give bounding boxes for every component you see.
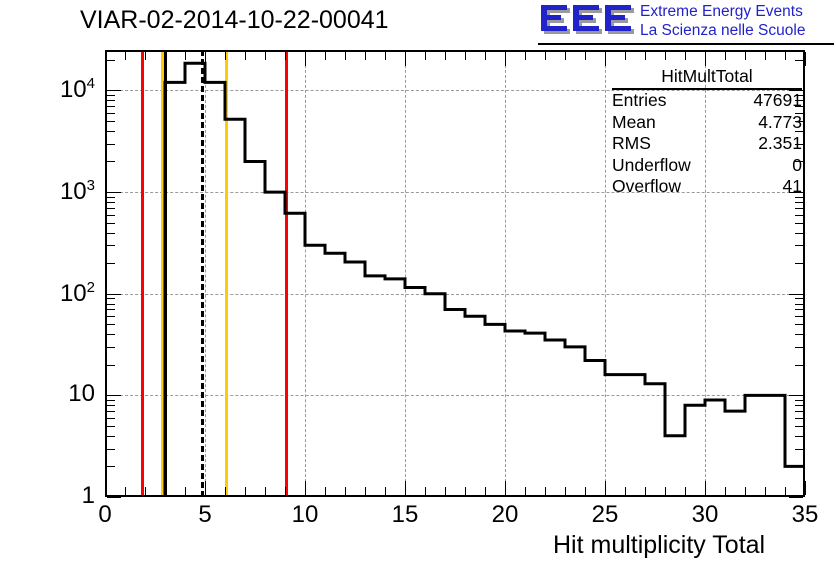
x-tick xyxy=(785,52,786,60)
x-tick xyxy=(445,52,446,60)
x-tick xyxy=(285,52,286,60)
y-tick xyxy=(107,466,115,467)
eee-logo-line1: Extreme Energy Events xyxy=(640,2,805,21)
x-tick xyxy=(685,52,686,60)
y-tick xyxy=(795,298,803,299)
x-tick xyxy=(325,52,326,60)
x-tick xyxy=(605,481,606,495)
x-tick xyxy=(545,52,546,60)
y-tick xyxy=(107,365,115,366)
y-tick xyxy=(107,245,115,246)
x-tick-label: 5 xyxy=(198,501,211,529)
y-tick xyxy=(789,497,803,498)
stats-row: Overflow41 xyxy=(612,176,802,198)
y-tick xyxy=(107,304,115,305)
y-tick xyxy=(107,497,121,498)
y-tick xyxy=(107,400,115,401)
y-tick xyxy=(107,161,115,162)
x-tick xyxy=(305,52,306,66)
x-tick xyxy=(765,52,766,60)
x-tick-label: 15 xyxy=(392,501,419,529)
stats-rows: Entries47691Mean4.773RMS2.351Underflow0O… xyxy=(612,90,802,198)
y-tick xyxy=(795,405,803,406)
x-tick xyxy=(625,52,626,60)
root-canvas: VIAR-02-2014-10-22-00041 xyxy=(0,0,836,572)
eee-logo-text: Extreme Energy Events La Scienza nelle S… xyxy=(640,2,805,40)
y-tick xyxy=(795,449,803,450)
x-tick xyxy=(785,487,786,495)
stats-value: 2.351 xyxy=(758,133,802,155)
y-tick xyxy=(795,365,803,366)
y-tick xyxy=(107,436,115,437)
x-tick xyxy=(265,52,266,60)
x-tick xyxy=(205,52,206,66)
y-tick-label: 104 xyxy=(0,75,95,104)
stats-value: 0 xyxy=(792,155,802,177)
x-tick xyxy=(325,487,326,495)
x-tick xyxy=(505,481,506,495)
x-tick-label: 35 xyxy=(792,501,819,529)
x-tick xyxy=(445,487,446,495)
x-tick xyxy=(665,52,666,60)
x-tick-label: 25 xyxy=(592,501,619,529)
stats-key: Overflow xyxy=(612,176,681,198)
x-tick xyxy=(725,52,726,60)
page-title: VIAR-02-2014-10-22-00041 xyxy=(80,6,389,35)
y-tick xyxy=(107,131,115,132)
x-tick xyxy=(705,52,706,66)
x-tick xyxy=(185,487,186,495)
y-tick xyxy=(795,324,803,325)
x-tick xyxy=(725,487,726,495)
y-tick xyxy=(107,223,115,224)
y-tick xyxy=(107,95,115,96)
y-tick xyxy=(795,263,803,264)
stats-box: HitMultTotal Entries47691Mean4.773RMS2.3… xyxy=(612,66,802,198)
y-tick xyxy=(107,60,115,61)
x-tick xyxy=(345,487,346,495)
y-tick xyxy=(795,400,803,401)
y-tick xyxy=(789,294,803,295)
x-tick-label: 30 xyxy=(692,501,719,529)
x-tick xyxy=(745,52,746,60)
x-tick-label: 10 xyxy=(292,501,319,529)
y-tick xyxy=(107,90,121,91)
x-tick xyxy=(565,52,566,60)
x-tick xyxy=(145,487,146,495)
x-tick xyxy=(305,481,306,495)
y-tick xyxy=(795,208,803,209)
x-tick xyxy=(225,487,226,495)
y-tick xyxy=(107,294,121,295)
y-tick-label: 102 xyxy=(0,279,95,308)
x-tick xyxy=(525,487,526,495)
y-tick xyxy=(107,324,115,325)
stats-key: RMS xyxy=(612,133,651,155)
y-tick xyxy=(795,334,803,335)
stats-key: Mean xyxy=(612,112,656,134)
y-tick xyxy=(795,426,803,427)
y-tick xyxy=(789,395,803,396)
x-tick xyxy=(585,52,586,60)
x-tick xyxy=(805,52,806,66)
y-tick xyxy=(107,309,115,310)
y-tick xyxy=(795,60,803,61)
y-tick xyxy=(107,395,121,396)
x-tick xyxy=(285,487,286,495)
x-tick xyxy=(605,52,606,66)
stats-key: Entries xyxy=(612,90,666,112)
y-tick-label: 1 xyxy=(0,482,95,510)
y-tick xyxy=(107,202,115,203)
x-tick xyxy=(765,487,766,495)
x-tick xyxy=(565,487,566,495)
y-tick xyxy=(795,223,803,224)
x-tick xyxy=(525,52,526,60)
x-tick xyxy=(165,487,166,495)
x-tick xyxy=(365,487,366,495)
logo-underline xyxy=(538,43,834,45)
x-tick xyxy=(485,487,486,495)
x-tick xyxy=(265,487,266,495)
x-tick xyxy=(745,487,746,495)
y-tick xyxy=(107,418,115,419)
x-tick xyxy=(425,52,426,60)
y-tick xyxy=(795,316,803,317)
y-tick xyxy=(795,411,803,412)
stats-value: 4.773 xyxy=(758,112,802,134)
x-axis-title: Hit multiplicity Total xyxy=(553,531,765,560)
x-tick-label: 0 xyxy=(98,501,111,529)
y-tick xyxy=(107,192,121,193)
y-tick xyxy=(107,113,115,114)
y-tick xyxy=(795,347,803,348)
y-tick xyxy=(795,202,803,203)
eee-logo-line2: La Scienza nelle Scuole xyxy=(640,21,805,40)
y-tick xyxy=(107,298,115,299)
stats-row: Mean4.773 xyxy=(612,112,802,134)
x-tick xyxy=(385,487,386,495)
x-tick xyxy=(485,52,486,60)
y-tick xyxy=(795,215,803,216)
y-tick xyxy=(107,334,115,335)
x-tick xyxy=(345,52,346,60)
x-tick xyxy=(465,487,466,495)
x-tick xyxy=(625,487,626,495)
y-tick xyxy=(107,215,115,216)
x-tick xyxy=(645,52,646,60)
y-tick xyxy=(107,405,115,406)
x-tick xyxy=(385,52,386,60)
x-tick xyxy=(505,52,506,66)
y-tick xyxy=(107,106,115,107)
x-tick xyxy=(585,487,586,495)
y-tick-label: 103 xyxy=(0,177,95,206)
y-tick xyxy=(795,418,803,419)
y-tick xyxy=(107,144,115,145)
x-tick xyxy=(805,481,806,495)
y-tick xyxy=(107,449,115,450)
y-tick xyxy=(795,309,803,310)
stats-row: Entries47691 xyxy=(612,90,802,112)
x-tick xyxy=(425,487,426,495)
eee-logo-mark xyxy=(538,2,638,38)
y-tick xyxy=(795,436,803,437)
x-tick xyxy=(185,52,186,60)
stats-row: RMS2.351 xyxy=(612,133,802,155)
stats-title: HitMultTotal xyxy=(612,66,802,90)
x-tick xyxy=(365,52,366,60)
y-tick xyxy=(107,411,115,412)
x-tick xyxy=(225,52,226,60)
y-tick xyxy=(107,426,115,427)
y-tick xyxy=(107,263,115,264)
y-tick xyxy=(795,245,803,246)
x-tick xyxy=(145,52,146,60)
y-tick xyxy=(107,197,115,198)
stats-value: 47691 xyxy=(753,90,802,112)
x-tick xyxy=(205,481,206,495)
stats-key: Underflow xyxy=(612,155,691,177)
y-tick xyxy=(107,233,115,234)
x-tick xyxy=(685,487,686,495)
y-tick xyxy=(107,100,115,101)
x-tick xyxy=(245,52,246,60)
y-tick xyxy=(107,347,115,348)
stats-row: Underflow0 xyxy=(612,155,802,177)
x-tick xyxy=(465,52,466,60)
x-tick xyxy=(245,487,246,495)
x-tick xyxy=(165,52,166,60)
x-tick xyxy=(405,52,406,66)
y-tick xyxy=(795,304,803,305)
x-tick xyxy=(105,52,106,66)
x-tick xyxy=(705,481,706,495)
x-tick xyxy=(105,481,106,495)
x-tick xyxy=(125,52,126,60)
y-tick xyxy=(107,121,115,122)
x-tick-label: 20 xyxy=(492,501,519,529)
x-tick xyxy=(545,487,546,495)
eee-logo: Extreme Energy Events La Scienza nelle S… xyxy=(538,2,834,42)
x-tick xyxy=(665,487,666,495)
y-tick xyxy=(795,466,803,467)
y-tick-label: 10 xyxy=(0,380,95,408)
x-tick xyxy=(125,487,126,495)
y-tick xyxy=(795,233,803,234)
stats-value: 41 xyxy=(783,176,802,198)
x-tick xyxy=(405,481,406,495)
y-tick xyxy=(107,316,115,317)
x-tick xyxy=(645,487,646,495)
y-tick xyxy=(107,208,115,209)
